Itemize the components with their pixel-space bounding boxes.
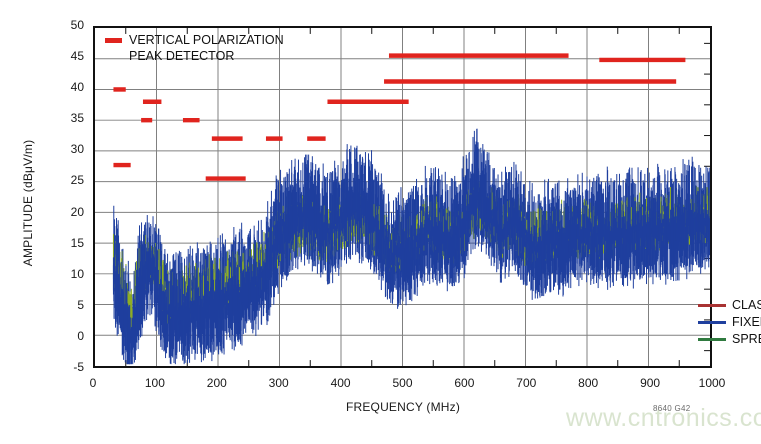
y-tick-label: 5 — [48, 298, 84, 312]
y-tick-label: 45 — [48, 49, 84, 63]
chart-figure: AMPLITUDE (dBμV/m) FREQUENCY (MHz) -5051… — [0, 0, 761, 444]
x-tick-label: 300 — [249, 376, 309, 390]
inline-annotation-line2: PEAK DETECTOR — [129, 48, 284, 64]
plot-area: VERTICAL POLARIZATION PEAK DETECTOR CLAS… — [93, 26, 712, 368]
data-traces — [95, 28, 710, 366]
y-tick-label: 0 — [48, 329, 84, 343]
inline-annotation-line1: VERTICAL POLARIZATION — [129, 32, 284, 48]
x-tick-label: 0 — [63, 376, 123, 390]
legend-label: SPREAD SPECTRUM MODE — [732, 331, 761, 348]
x-tick-label: 800 — [558, 376, 618, 390]
trace-fixed-frequency-mode — [113, 129, 709, 364]
y-tick-label: 15 — [48, 236, 84, 250]
legend-swatch-icon — [698, 321, 726, 324]
y-tick-label: 20 — [48, 205, 84, 219]
y-axis-title: AMPLITUDE (dBμV/m) — [21, 113, 35, 293]
y-tick-label: 35 — [48, 111, 84, 125]
inline-legend-swatch-icon — [105, 38, 122, 43]
y-tick-label: 40 — [48, 80, 84, 94]
x-tick-label: 900 — [620, 376, 680, 390]
x-tick-label: 400 — [311, 376, 371, 390]
x-tick-label: 200 — [187, 376, 247, 390]
figure-id-label: 8640 G42 — [653, 404, 691, 413]
y-tick-label: -5 — [48, 360, 84, 374]
y-tick-label: 25 — [48, 173, 84, 187]
x-tick-label: 1000 — [682, 376, 742, 390]
limit-segments — [113, 56, 685, 179]
legend-swatch-icon — [698, 304, 726, 307]
legend-label: FIXED FREQUENCY MODE — [732, 314, 761, 331]
x-tick-label: 500 — [373, 376, 433, 390]
x-tick-label: 700 — [496, 376, 556, 390]
legend-swatch-icon — [698, 338, 726, 341]
y-tick-label: 10 — [48, 267, 84, 281]
x-tick-label: 100 — [125, 376, 185, 390]
legend-label: CLASS 5 PEAK LIMIT — [732, 297, 761, 314]
y-tick-label: 50 — [48, 18, 84, 32]
y-tick-label: 30 — [48, 142, 84, 156]
x-tick-label: 600 — [434, 376, 494, 390]
